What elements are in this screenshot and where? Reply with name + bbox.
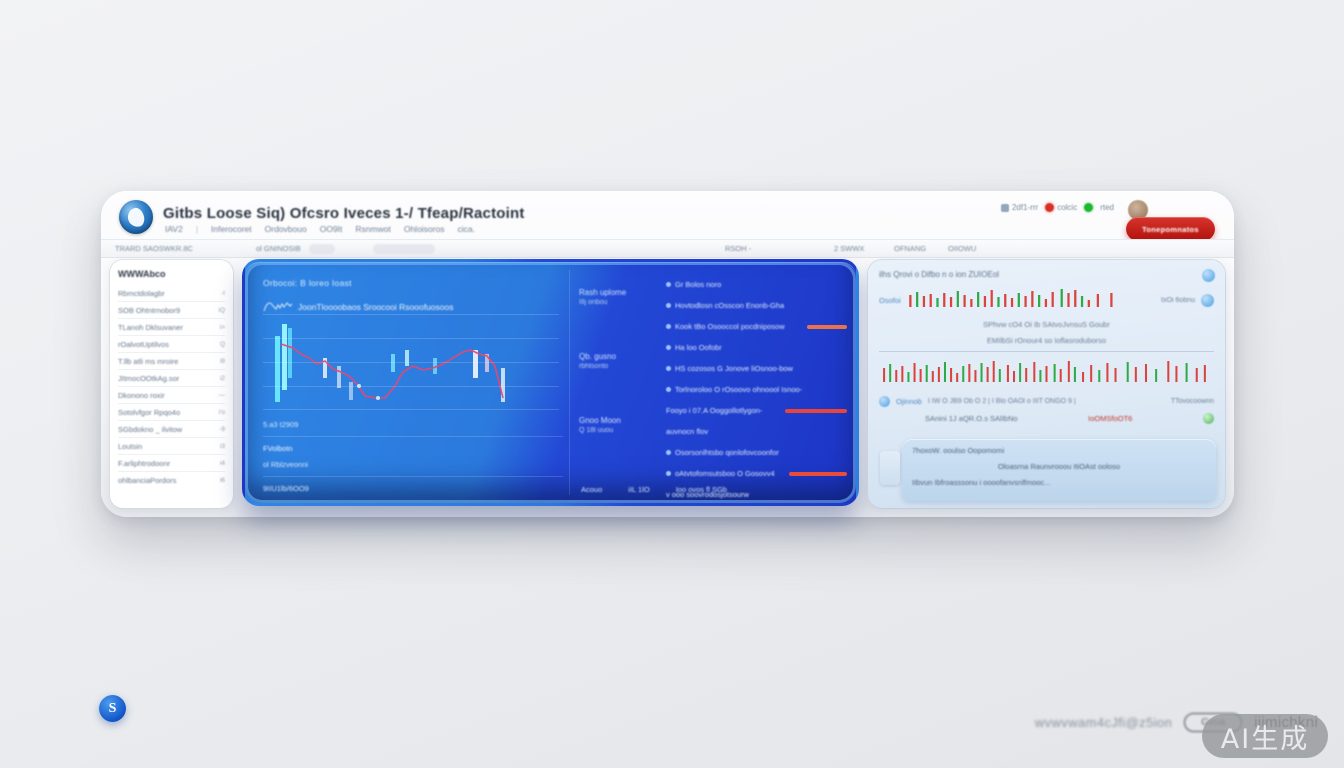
online-dot-icon[interactable]: [1084, 203, 1093, 212]
toolbar-item-0[interactable]: TRARD SAOSWKR.8C: [115, 244, 193, 253]
sidebar-item-value: i4: [220, 460, 225, 467]
sidebar: WWWAbco Rbmctdolagbr -I SOB Ohtntrnobor9…: [110, 260, 233, 508]
sidebar-item-label: Dkonono roxir: [118, 391, 165, 400]
market-split-right: IoOMSfoOT6: [1088, 414, 1132, 423]
people-glyph: [1001, 204, 1009, 212]
user-count-icon[interactable]: 2df1-rrr: [1001, 203, 1038, 212]
blue-footer-row-3: 9IIU1lb/6OO9: [263, 484, 563, 493]
candlestick-strip-icon: [907, 287, 1155, 313]
sidebar-item-2[interactable]: TLanoh Dklsuvaner i>: [118, 319, 225, 336]
nav-item-1[interactable]: Inferocoret: [211, 224, 252, 234]
list-item-label: HS cozosos G Jonove liOsnoo-bow: [675, 364, 793, 373]
market-row-2-values: I IW O JB9 Ob O 2 | I Blo OAOl o IIIT ON…: [928, 398, 1165, 405]
nav-item-5[interactable]: Ohloisoros: [404, 224, 445, 234]
blue-panel-subheading: JoonTloooobaos Sroocooi Rsooofuosoos: [298, 302, 453, 312]
list-item[interactable]: oAtvtofomsutsboo O Gosovv4: [666, 463, 847, 484]
metric-title: Qb. gusno: [579, 352, 661, 361]
divider: [263, 476, 563, 477]
list-item[interactable]: Osorsonlhtsbo qonlofovcoonfor: [666, 442, 847, 463]
sidebar-item-5[interactable]: JItmocOOtkAg.sor i2: [118, 370, 225, 387]
nested-row-0: 7hoxoW. ooulso Oopomomi: [912, 446, 1206, 455]
sparkline-icon: [263, 300, 293, 313]
panel-handle-icon[interactable]: [880, 451, 900, 485]
window-header: Gitbs Loose Siq) Ofcsro Iveces 1-/ Tfeap…: [101, 191, 1234, 239]
sidebar-item-value: i>: [220, 324, 225, 331]
list-item-label: Ha loo Oofobr: [675, 343, 722, 352]
bullet-icon: [666, 324, 671, 329]
nested-row-1: Oloasrna Raunvrooou ItiOAst ooloso: [912, 462, 1206, 471]
bullet-icon: [666, 387, 671, 392]
sidebar-item-value: i2: [220, 375, 225, 382]
sidebar-item-10[interactable]: F.arliphtrodoonr i4: [118, 455, 225, 472]
bullet-icon: [666, 303, 671, 308]
ai-watermark-label: AI生成: [1221, 717, 1309, 756]
sidebar-item-value: iQ: [219, 307, 226, 314]
sidebar-item-label: T.llb atli ms mroire: [118, 357, 178, 366]
blue-panel-item-list: Gr Bolos noro Hovtodlosn cOsscon Enonb-G…: [666, 274, 847, 505]
sidebar-item-value: -I: [221, 290, 225, 297]
sidebar-item-label: ohlbanciaPordors: [118, 476, 176, 485]
toolbar-item-3[interactable]: 2 SWWX: [834, 244, 864, 253]
sidebar-item-value: Q: [220, 341, 225, 348]
market-row-2[interactable]: Ojinnob I IW O JB9 Ob O 2 | I Blo OAOl o…: [879, 396, 1214, 407]
sidebar-item-label: SGbdokno _ ilvitow: [118, 425, 182, 434]
market-panel-title-label: ilhs Qrovi o Difbo n o ion ZUIOEol: [879, 270, 999, 279]
bullet-icon: [666, 450, 671, 455]
market-row-2-tag: Ojinnob: [896, 397, 922, 406]
nav-item-2[interactable]: Ordovbouo: [265, 224, 307, 234]
blue-footer-row-2: ol Rblzveonni: [263, 460, 563, 469]
list-item-label: auvnocn flov: [666, 427, 708, 436]
sidebar-item-value: -9: [219, 426, 225, 433]
list-item[interactable]: Torlnoroloo O rOsoovo ohnoool Isnoo-: [666, 379, 847, 400]
alert-glyph: [1045, 203, 1054, 212]
metric-2: Gnoo Moon Q 18l uuou: [579, 416, 661, 434]
window-body: WWWAbco Rbmctdolagbr -I SOB Ohtntrnobor9…: [101, 258, 1234, 517]
sidebar-item-label: JItmocOOtkAg.sor: [118, 374, 179, 383]
blue-panel-heading: Orbocoi: B loreo Ioast: [263, 278, 561, 288]
sidebar-item-0[interactable]: Rbmctdolagbr -I: [118, 285, 225, 302]
blue-footer-meta-b: Ioo ovos fl SGb: [676, 485, 727, 494]
sidebar-item-9[interactable]: Loutsin i3: [118, 438, 225, 455]
blue-panel-subheading-row: JoonTloooobaos Sroocooi Rsooofuosoos: [263, 300, 561, 313]
toolbar-item-5[interactable]: OIIOWU: [948, 244, 976, 253]
candlestick-strip-icon-2: [879, 358, 1214, 388]
market-center-text-1: SPhvw cO4 Oi Ib SAtvoJvnsuS Goubr: [879, 320, 1214, 329]
blue-footer-action[interactable]: Acouo: [581, 485, 602, 494]
sidebar-item-4[interactable]: T.llb atli ms mroire i9: [118, 353, 225, 370]
bell-icon[interactable]: [879, 396, 890, 407]
list-item-label: Osorsonlhtsbo qonlofovcoonfor: [675, 448, 779, 457]
market-panel: ilhs Qrovi o Difbo n o ion ZUIOEol Osofo…: [868, 260, 1225, 508]
globe-brand-icon: [119, 200, 153, 234]
toolbar-pill-a[interactable]: [309, 244, 335, 254]
metric-list: Rash uplome IIlj onbou Qb. gusno rbhtson…: [579, 288, 661, 480]
sidebar-item-7[interactable]: Sotolvfgor Rpqo4o i'o: [118, 404, 225, 421]
ai-generated-watermark: AI生成: [1202, 714, 1328, 758]
bullet-icon: [666, 345, 671, 350]
nav-separator: |: [196, 224, 198, 234]
grid-icon[interactable]: rted: [1100, 203, 1114, 212]
list-item-label: Kook tBo Osooccol pocdniposow: [675, 322, 785, 331]
online-glyph: [1084, 203, 1093, 212]
sidebar-item-value: i'o: [219, 409, 225, 416]
metric-title: Gnoo Moon: [579, 416, 661, 425]
sidebar-item-label: rOalvotUptilvos: [118, 340, 169, 349]
market-center-text-2: EMIlbSi rOnour4 so Ioflasroduborso: [879, 336, 1214, 345]
toolbar-item-4[interactable]: OFNANG: [894, 244, 926, 253]
brand-badge-glyph: S: [109, 701, 117, 717]
sidebar-item-value: i3: [220, 443, 225, 450]
nested-detail-card: 7hoxoW. ooulso Oopomomi Oloasrna Raunvro…: [902, 439, 1216, 501]
blue-panel-footer: 5.a3 t2909 FVolbotn ol Rblzveonni 9IIU1l…: [263, 420, 563, 500]
market-split-left: SAnini 1J aQR.O.s SAlIbNo: [925, 414, 1018, 423]
toolbar-search-field[interactable]: [373, 244, 435, 254]
list-item[interactable]: Kook tBo Osooccol pocdniposow: [666, 316, 847, 337]
sidebar-item-label: Sotolvfgor Rpqo4o: [118, 408, 180, 417]
list-item-label: Torlnoroloo O rOsoovo ohnoool Isnoo-: [675, 385, 802, 394]
brand-corner-badge[interactable]: S: [99, 695, 126, 722]
status-ok-icon: [1203, 413, 1214, 424]
user-count-label: 2df1-rrr: [1012, 203, 1038, 212]
sidebar-item-label: SOB Ohtntrnobor9: [118, 306, 180, 315]
progress-bar: [789, 472, 847, 476]
sidebar-item-8[interactable]: SGbdokno _ ilvitow -9: [118, 421, 225, 438]
market-row-1[interactable]: Osofoi: [879, 287, 1214, 313]
blue-panel-right: Rash uplome IIlj onbou Qb. gusno rbhtson…: [569, 262, 856, 503]
nav-item-0[interactable]: IAV2: [165, 224, 183, 234]
progress-bar: [807, 325, 847, 329]
bullet-icon: [666, 471, 671, 476]
app-window: Gitbs Loose Siq) Ofcsro Iveces 1-/ Tfeap…: [101, 191, 1234, 517]
bullet-icon: [666, 366, 671, 371]
header-nav[interactable]: IAV2 | Inferocoret Ordovbouo OO9It Rsnmw…: [165, 224, 475, 234]
bullet-icon: [666, 282, 671, 287]
blue-circle-icon[interactable]: [1202, 269, 1215, 282]
toolbar-item-2[interactable]: RSOH -: [725, 244, 751, 253]
market-row-value: txOi 6obnu: [1161, 297, 1195, 304]
secondary-toolbar: TRARD SAOSWKR.8C ol GNINOSIB RSOH - 2 SW…: [101, 239, 1234, 258]
list-item[interactable]: Fooyo i 07.A Ooggollotlygon-: [666, 400, 847, 421]
sidebar-title: WWWAbco: [118, 269, 225, 279]
nav-item-6[interactable]: cica.: [457, 224, 474, 234]
metric-1: Qb. gusno rbhtsonto: [579, 352, 661, 370]
market-panel-title: ilhs Qrovi o Difbo n o ion ZUIOEol: [879, 270, 1214, 279]
alert-label: colcic: [1057, 203, 1077, 212]
price-chart: [263, 314, 559, 410]
sidebar-item-value: —: [219, 392, 226, 399]
page-title: Gitbs Loose Siq) Ofcsro Iveces 1-/ Tfeap…: [163, 205, 525, 222]
sidebar-item-label: F.arliphtrodoonr: [118, 459, 170, 468]
nested-row-2: IIbvun Ibfroasssonu i oooofanvsnlfmooc..…: [912, 478, 1206, 487]
metric-sub: IIlj onbou: [579, 299, 661, 306]
list-item-label: Hovtodlosn cOsscon Enonb-Gha: [675, 301, 784, 310]
header-status-icons: 2df1-rrr colcic rted: [1001, 203, 1114, 212]
sidebar-item-value: i9: [220, 358, 225, 365]
grid-label: rted: [1100, 203, 1114, 212]
toolbar-item-1[interactable]: ol GNINOSIB: [256, 244, 301, 253]
metric-sub: Q 18l uuou: [579, 427, 661, 434]
blue-footer-row-0: 5.a3 t2909: [263, 420, 563, 429]
primary-cta-button[interactable]: Tonepomnatos: [1126, 217, 1215, 241]
list-item-label: oAtvtofomsutsboo O Gosovv4: [675, 469, 775, 478]
divider: [879, 351, 1214, 352]
list-item[interactable]: Gr Bolos noro: [666, 274, 847, 295]
sidebar-item-1[interactable]: SOB Ohtntrnobor9 iQ: [118, 302, 225, 319]
list-item[interactable]: auvnocn flov: [666, 421, 847, 442]
primary-cta-label: Tonepomnatos: [1142, 225, 1199, 234]
blue-panel-right-footer: Acouo iIL 1lO Ioo ovos fl SGb: [581, 485, 846, 494]
list-item[interactable]: HS cozosos G Jonove liOsnoo-bow: [666, 358, 847, 379]
metric-sub: rbhtsonto: [579, 363, 661, 370]
market-row-tag: Osofoi: [879, 296, 901, 305]
sidebar-item-11[interactable]: ohlbanciaPordors i6: [118, 472, 225, 489]
nav-item-4[interactable]: Rsnmwot: [355, 224, 390, 234]
market-row-2-right: TTovocoowrin: [1171, 398, 1214, 405]
cloud-icon[interactable]: [1201, 294, 1214, 307]
sidebar-item-label: Rbmctdolagbr: [118, 289, 165, 298]
featured-blue-panel: Orbocoi: B loreo Ioast JoonTloooobaos Sr…: [242, 259, 859, 506]
sidebar-item-value: i6: [220, 477, 225, 484]
market-split-row: SAnini 1J aQR.O.s SAlIbNo IoOMSfoOT6: [879, 413, 1214, 424]
divider: [263, 436, 563, 437]
source-url-text: wvwvwam4cJfi@z5ion: [1035, 715, 1172, 730]
list-item[interactable]: Ha loo Oofobr: [666, 337, 847, 358]
progress-bar: [785, 409, 847, 413]
nav-item-3[interactable]: OO9It: [320, 224, 343, 234]
list-item-label: Fooyo i 07.A Ooggollotlygon-: [666, 406, 762, 415]
sidebar-item-label: TLanoh Dklsuvaner: [118, 323, 183, 332]
alert-dot-icon[interactable]: colcic: [1045, 203, 1077, 212]
list-item-label: Gr Bolos noro: [675, 280, 721, 289]
blue-panel-left: Orbocoi: B loreo Ioast JoonTloooobaos Sr…: [245, 262, 575, 503]
blue-footer-row-1: FVolbotn: [263, 444, 563, 453]
blue-footer-meta-a: iIL 1lO: [628, 485, 649, 494]
metric-title: Rash uplome: [579, 288, 661, 297]
metric-0: Rash uplome IIlj onbou: [579, 288, 661, 306]
sidebar-item-label: Loutsin: [118, 442, 142, 451]
sidebar-item-6[interactable]: Dkonono roxir —: [118, 387, 225, 404]
list-item[interactable]: Hovtodlosn cOsscon Enonb-Gha: [666, 295, 847, 316]
sidebar-item-3[interactable]: rOalvotUptilvos Q: [118, 336, 225, 353]
